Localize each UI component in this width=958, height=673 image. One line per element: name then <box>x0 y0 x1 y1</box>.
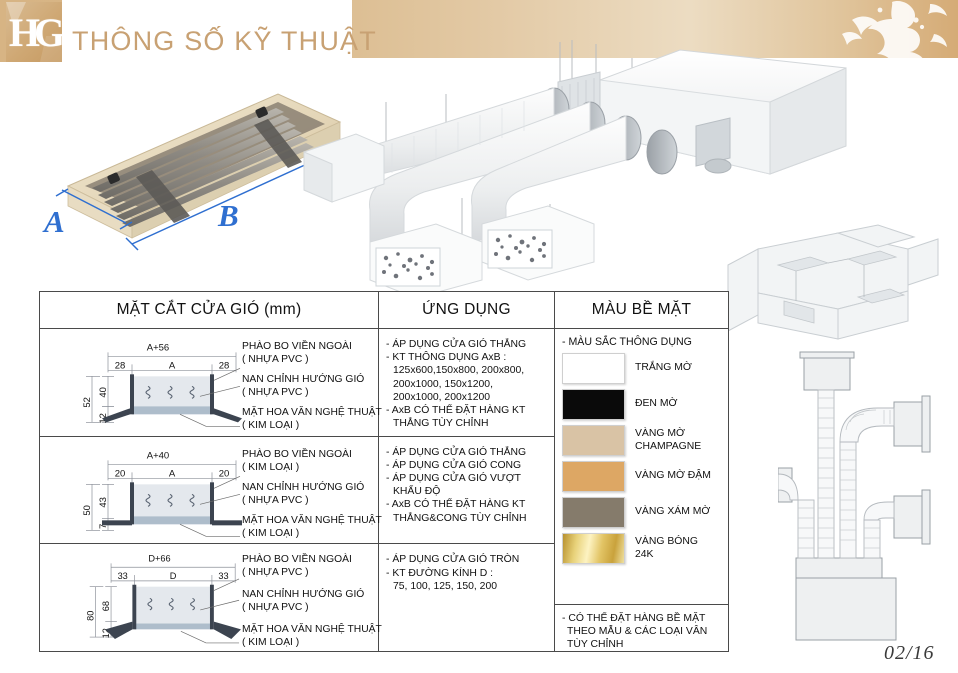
callout-1-line2: ( KIM LOẠI ) <box>242 462 299 474</box>
application-cell-1: - ÁP DỤNG CỬA GIÓ THẲNG - KT THÔNG DỤNG … <box>379 329 554 434</box>
swatch-den-mo <box>562 389 625 420</box>
swatch-label-line2: 24K <box>635 549 698 561</box>
application-line: 75, 100, 125, 150, 200 <box>386 580 548 593</box>
color-swatch-item: VÀNG MỜ ĐẬM <box>562 461 728 492</box>
application-line: - ÁP DỤNG CỬA GIÓ THẲNG <box>386 446 548 459</box>
callout-3-line2: ( KIM LOẠI ) <box>242 637 299 649</box>
brand-logo: HG <box>6 2 62 62</box>
callout-1-line2: ( NHỰA PVC ) <box>242 354 309 366</box>
svg-text:D+66: D+66 <box>148 554 170 564</box>
swatch-label-line1: ĐEN MỜ <box>635 398 677 410</box>
application-line: THẲNG&CONG TÙY CHỈNH <box>386 512 548 525</box>
page-number: 02/16 <box>884 642 935 665</box>
swatch-label: ĐEN MỜ <box>635 398 677 410</box>
svg-text:40: 40 <box>98 387 109 398</box>
column-header-section: MẶT CẮT CỬA GIÓ (mm) <box>40 292 379 328</box>
color-section-heading: - MÀU SẮC THÔNG DỤNG <box>562 336 728 348</box>
duct-manifold-diagram <box>778 350 958 650</box>
application-line: - AxB CÓ THỂ ĐẶT HÀNG KT <box>386 498 548 511</box>
callout-2-line2: ( NHỰA PVC ) <box>242 602 309 614</box>
swatch-label-line2: CHAMPAGNE <box>635 441 701 453</box>
swatch-vang-bong-24k <box>562 533 625 564</box>
application-line: KHẨU ĐỘ <box>386 485 548 498</box>
svg-text:28: 28 <box>219 360 230 371</box>
swatch-label: VÀNG MỜ CHAMPAGNE <box>635 428 701 453</box>
table-row: D+66 33 D 33 80 68 12 <box>40 543 378 651</box>
svg-text:68: 68 <box>101 601 111 611</box>
swatch-label: TRẮNG MỜ <box>635 362 692 374</box>
svg-text:80: 80 <box>86 611 96 621</box>
swatch-vang-mo-champagne <box>562 425 625 456</box>
callout-2-line2: ( NHỰA PVC ) <box>242 387 309 399</box>
column-cross-sections: A+56 28 A 28 52 40 12 <box>40 329 379 651</box>
color-swatch-item: ĐEN MỜ <box>562 389 728 420</box>
swatch-vang-xam-mo <box>562 497 625 528</box>
swatch-label-line1: VÀNG MỜ <box>635 428 701 440</box>
logo-decor-icon <box>6 2 62 62</box>
callout-1-line1: PHÀO BO VIỀN NGOÀI <box>242 341 352 353</box>
swatch-label-line1: VÀNG XÁM MỜ <box>635 506 710 518</box>
table-row: - ÁP DỤNG CỬA GIÓ THẲNG - KT THÔNG DỤNG … <box>379 329 554 436</box>
svg-text:20: 20 <box>115 468 126 479</box>
note-line: THEO MẪU & CÁC LOẠI VÂN <box>562 625 723 638</box>
callout-3-line1: MẶT HOA VĂN NGHỆ THUẬT <box>242 407 382 419</box>
swatch-label-line1: VÀNG MỜ ĐẬM <box>635 470 711 482</box>
callout-2-line1: NAN CHỈNH HƯỚNG GIÓ <box>242 374 364 386</box>
callout-2-line2: ( NHỰA PVC ) <box>242 495 309 507</box>
svg-text:50: 50 <box>82 505 93 516</box>
table-row: A+40 20 A 20 50 43 7 <box>40 436 378 544</box>
application-line: - ÁP DỤNG CỬA GIÓ TRÒN <box>386 553 548 566</box>
swatch-label: VÀNG XÁM MỜ <box>635 506 710 518</box>
callout-3-line2: ( KIM LOẠI ) <box>242 528 299 540</box>
table-row: A+56 28 A 28 52 40 12 <box>40 329 378 436</box>
color-swatch-item: TRẮNG MỜ <box>562 353 728 384</box>
callout-labels-1: PHÀO BO VIỀN NGOÀI ( NHỰA PVC ) NAN CHỈN… <box>240 333 378 440</box>
swatch-label: VÀNG BÓNG 24K <box>635 536 698 561</box>
callout-1-line1: PHÀO BO VIỀN NGOÀI <box>242 449 352 461</box>
application-line: - KT ĐƯỜNG KÍNH D : <box>386 567 548 580</box>
table-body: A+56 28 A 28 52 40 12 <box>40 329 728 651</box>
color-swatch-item: VÀNG MỜ CHAMPAGNE <box>562 425 728 456</box>
swatch-label-line1: VÀNG BÓNG <box>635 536 698 548</box>
column-surface-colors: - MÀU SẮC THÔNG DỤNG TRẮNG MỜ ĐEN MỜ <box>555 329 728 651</box>
table-header-row: MẶT CẮT CỬA GIÓ (mm) ỨNG DỤNG MÀU BỀ MẶT <box>40 292 728 329</box>
application-cell-2: - ÁP DỤNG CỬA GIÓ THẲNG - ÁP DỤNG CỬA GI… <box>379 437 554 529</box>
swatch-vang-mo-dam <box>562 461 625 492</box>
callout-labels-2: PHÀO BO VIỀN NGOÀI ( KIM LOẠI ) NAN CHỈN… <box>240 441 378 548</box>
svg-text:20: 20 <box>219 468 230 479</box>
application-line: - KT THÔNG DỤNG AxB : <box>386 351 548 364</box>
callout-2-line1: NAN CHỈNH HƯỚNG GIÓ <box>242 589 364 601</box>
swatch-label-line1: TRẮNG MỜ <box>635 362 692 374</box>
color-swatch-item: VÀNG XÁM MỜ <box>562 497 728 528</box>
svg-text:43: 43 <box>98 497 109 508</box>
callout-3-line1: MẶT HOA VĂN NGHỆ THUẬT <box>242 624 382 636</box>
svg-text:33: 33 <box>118 571 128 581</box>
application-line: - ÁP DỤNG CỬA GIÓ VƯỢT <box>386 472 548 485</box>
note-line: - CÓ THỂ ĐẶT HÀNG BỀ MẶT <box>562 612 723 625</box>
svg-text:D: D <box>170 571 177 581</box>
building-floorplan-render <box>718 205 948 345</box>
svg-text:A+40: A+40 <box>147 450 169 461</box>
callout-3-line2: ( KIM LOẠI ) <box>242 420 299 432</box>
callout-1-line2: ( NHỰA PVC ) <box>242 567 309 579</box>
callout-3-line1: MẶT HOA VĂN NGHỆ THUẬT <box>242 515 382 527</box>
svg-text:28: 28 <box>115 360 126 371</box>
application-line: 200x1000, 200x1200 <box>386 391 548 404</box>
svg-text:52: 52 <box>82 397 93 408</box>
callout-1-line1: PHÀO BO VIỀN NGOÀI <box>242 554 352 566</box>
dimension-label-b: B <box>218 198 239 234</box>
specification-table: MẶT CẮT CỬA GIÓ (mm) ỨNG DỤNG MÀU BỀ MẶT <box>39 291 729 652</box>
custom-order-note: - CÓ THỂ ĐẶT HÀNG BỀ MẶT THEO MẪU & CÁC … <box>555 604 728 651</box>
application-cell-3: - ÁP DỤNG CỬA GIÓ TRÒN - KT ĐƯỜNG KÍNH D… <box>379 544 554 597</box>
svg-text:A: A <box>169 468 176 479</box>
application-line: - ÁP DỤNG CỬA GIÓ THẲNG <box>386 338 548 351</box>
application-line: - AxB CÓ THỂ ĐẶT HÀNG KT <box>386 404 548 417</box>
table-row: - ÁP DỤNG CỬA GIÓ THẲNG - ÁP DỤNG CỬA GI… <box>379 436 554 544</box>
dimension-label-a: A <box>44 204 65 240</box>
application-line: 200x1000, 150x1200, <box>386 378 548 391</box>
table-row: - ÁP DỤNG CỬA GIÓ TRÒN - KT ĐƯỜNG KÍNH D… <box>379 543 554 651</box>
application-line: - ÁP DỤNG CỬA GIÓ CONG <box>386 459 548 472</box>
callout-2-line1: NAN CHỈNH HƯỚNG GIÓ <box>242 482 364 494</box>
note-line: TÙY CHỈNH <box>562 638 723 651</box>
column-applications: - ÁP DỤNG CỬA GIÓ THẲNG - KT THÔNG DỤNG … <box>379 329 555 651</box>
column-header-application: ỨNG DỤNG <box>379 292 555 328</box>
svg-text:A: A <box>169 360 176 371</box>
column-header-surface-color: MÀU BỀ MẶT <box>555 292 728 328</box>
color-swatch-item: VÀNG BÓNG 24K <box>562 533 728 564</box>
application-line: 125x600,150x800, 200x800, <box>386 364 548 377</box>
swatch-label: VÀNG MỜ ĐẬM <box>635 470 711 482</box>
swatch-trang-mo <box>562 353 625 384</box>
application-line: THẲNG TÙY CHỈNH <box>386 417 548 430</box>
svg-text:A+56: A+56 <box>147 342 169 353</box>
svg-text:33: 33 <box>218 571 228 581</box>
color-list: - MÀU SẮC THÔNG DỤNG TRẮNG MỜ ĐEN MỜ <box>555 329 728 604</box>
callout-labels-3: PHÀO BO VIỀN NGOÀI ( NHỰA PVC ) NAN CHỈN… <box>240 548 378 655</box>
